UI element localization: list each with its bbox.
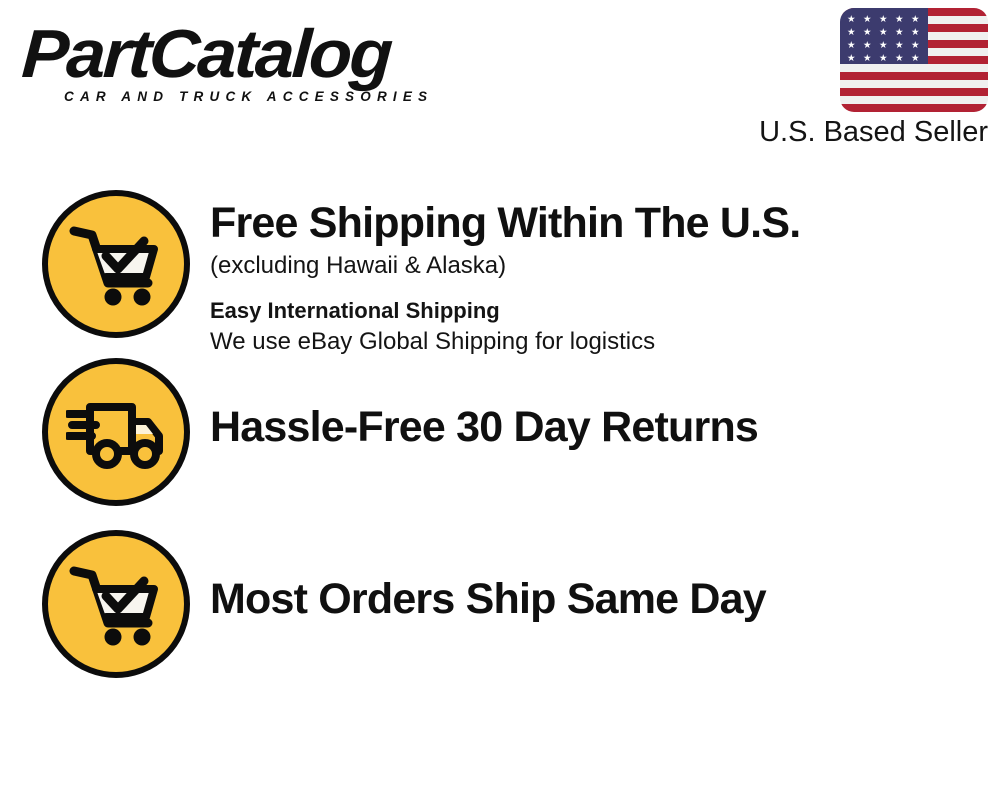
feature-text-block: Most Orders Ship Same Day [210, 530, 1000, 622]
shopping-cart-check-icon [42, 530, 190, 678]
flag-star: ★ [895, 54, 904, 64]
feature-secondary-text: We use eBay Global Shipping for logistic… [210, 327, 1000, 357]
us-flag-icon: ★★★★★★★★★★★★★★★★★★★★ [840, 8, 988, 112]
flag-star: ★ [911, 28, 920, 38]
flag-star: ★ [879, 28, 888, 38]
flag-star: ★ [879, 54, 888, 64]
flag-star: ★ [847, 41, 856, 51]
feature-row: Free Shipping Within The U.S. (excluding… [0, 190, 1000, 357]
feature-text-block: Hassle-Free 30 Day Returns [210, 358, 1000, 450]
flag-star: ★ [863, 41, 872, 51]
flag-stripe [840, 72, 988, 80]
flag-star: ★ [863, 54, 872, 64]
delivery-truck-icon [42, 358, 190, 506]
flag-stripe [840, 104, 988, 112]
page-header: PartCatalog CAR AND TRUCK ACCESSORIES ★★… [0, 0, 1000, 170]
flag-star: ★ [847, 15, 856, 25]
flag-canton: ★★★★★★★★★★★★★★★★★★★★ [840, 8, 928, 64]
feature-secondary-heading: Easy International Shipping [210, 297, 1000, 325]
feature-headline: Most Orders Ship Same Day [210, 540, 1000, 622]
us-based-seller-badge: ★★★★★★★★★★★★★★★★★★★★ U.S. Based Seller [756, 8, 988, 149]
flag-star: ★ [911, 15, 920, 25]
feature-headline: Hassle-Free 30 Day Returns [210, 368, 1000, 450]
flag-star: ★ [895, 15, 904, 25]
feature-subline: (excluding Hawaii & Alaska) [210, 251, 1000, 281]
feature-text-block: Free Shipping Within The U.S. (excluding… [210, 190, 1000, 357]
flag-stripe [840, 96, 988, 104]
flag-star: ★ [847, 28, 856, 38]
flag-star: ★ [863, 28, 872, 38]
flag-star: ★ [847, 54, 856, 64]
flag-star: ★ [879, 41, 888, 51]
flag-star: ★ [911, 54, 920, 64]
seller-label: U.S. Based Seller [756, 116, 988, 149]
flag-stripe [840, 88, 988, 96]
shopping-cart-check-icon [42, 190, 190, 338]
brand-wordmark: PartCatalog [20, 22, 512, 87]
feature-row: Most Orders Ship Same Day [0, 530, 1000, 678]
flag-star: ★ [879, 15, 888, 25]
flag-star: ★ [895, 41, 904, 51]
flag-star: ★ [895, 28, 904, 38]
flag-star: ★ [863, 15, 872, 25]
feature-headline: Free Shipping Within The U.S. [210, 200, 1000, 246]
flag-star: ★ [911, 41, 920, 51]
feature-row: Hassle-Free 30 Day Returns [0, 358, 1000, 506]
brand-logo[interactable]: PartCatalog CAR AND TRUCK ACCESSORIES [22, 22, 492, 104]
flag-stripe [840, 80, 988, 88]
flag-stripe [840, 64, 988, 72]
